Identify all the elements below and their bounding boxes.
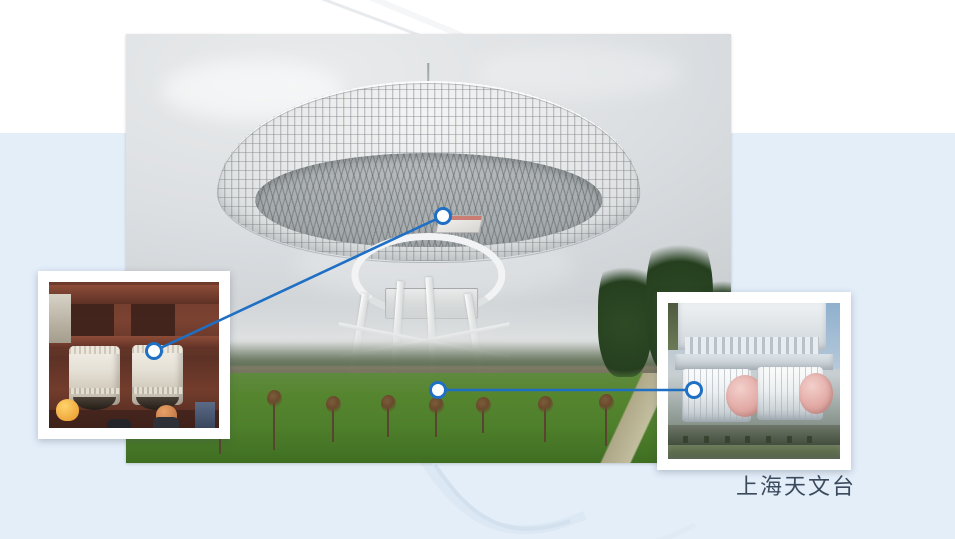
safety-helmet [56,399,79,421]
shadow-recess [69,304,113,338]
sapling [380,397,395,437]
slide-canvas: 上海天文台 [0,0,955,539]
caption-label: 上海天文台 [736,469,856,501]
cylinder-flange [69,346,120,354]
feed-marker [439,216,482,220]
dish-feed-horn [435,215,483,233]
sapling [537,398,553,442]
steel-beam [49,285,219,304]
worker-body [195,402,215,428]
inset-right-image [668,303,840,459]
bearing-cylinder [69,346,120,404]
ground-strip [668,445,840,459]
shadow-recess [131,304,175,338]
rail-bolt [704,436,709,443]
sapling [598,396,615,446]
rail-bolt [766,436,771,443]
cylinder-bolt-ring [132,387,183,394]
pink-end-cap [799,373,833,414]
cylinder-bolt-ring [69,388,120,394]
sapling [265,392,283,450]
inset-photo-right[interactable] [657,292,851,470]
rail-bolt [683,436,688,443]
sapling [477,399,490,433]
cylinder-flange [132,345,183,353]
rail-bolt [807,436,812,443]
inset-left-image [49,282,219,428]
rail-bolt [725,436,730,443]
worker-body [153,417,179,428]
sapling [326,398,341,442]
sapling [429,399,443,437]
inset-photo-left[interactable] [38,271,230,439]
support-rail [668,425,840,447]
rail-bolt [787,436,792,443]
rail-bolt [745,436,750,443]
bearing-cylinder [132,345,183,405]
conifer-tree [598,249,652,378]
pale-bracket [49,294,71,344]
worker-body [107,419,131,428]
